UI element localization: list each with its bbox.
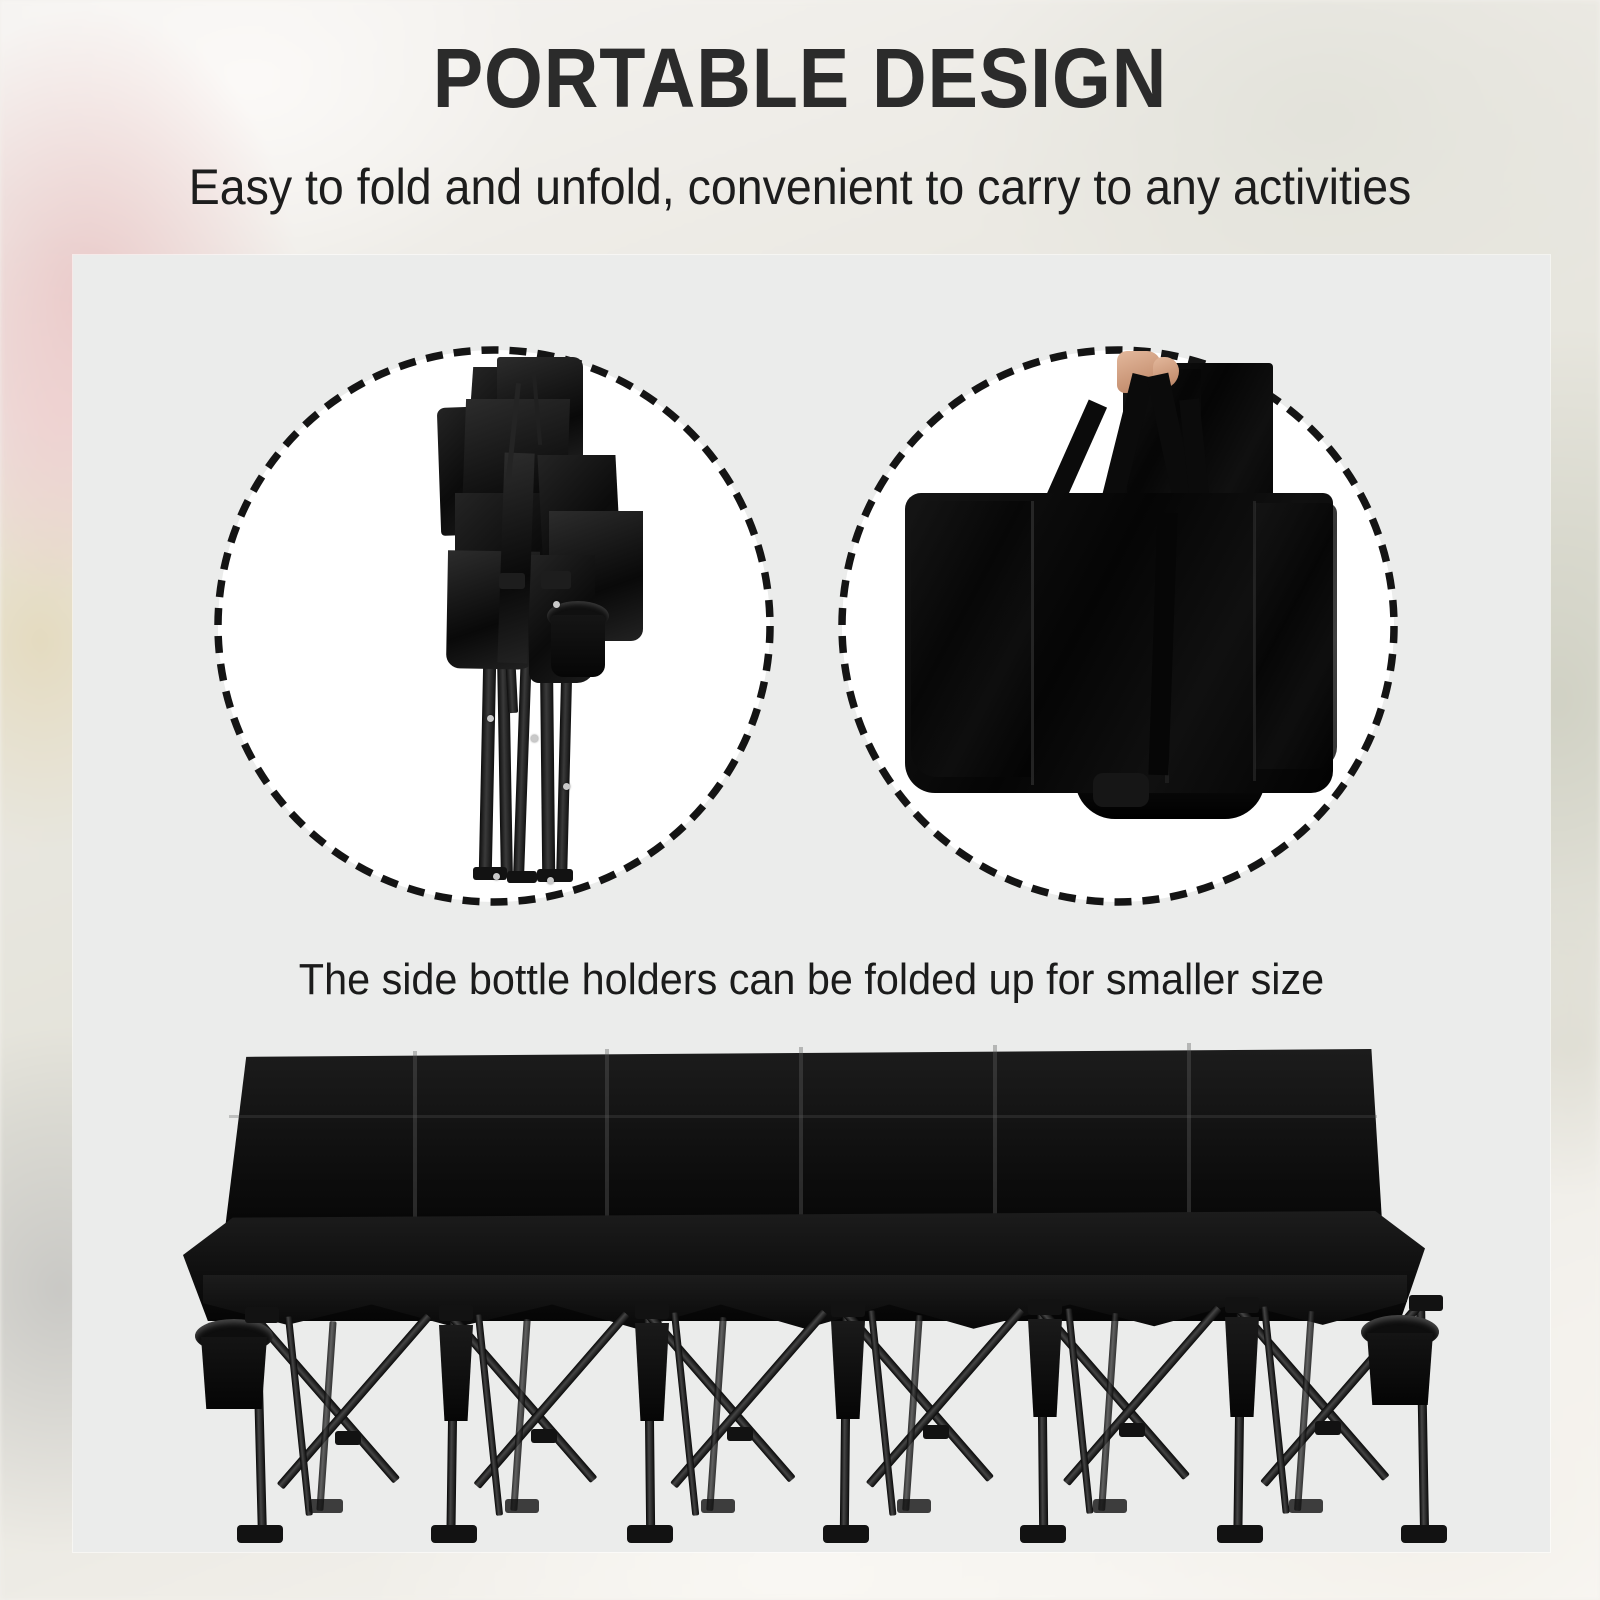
page-title: PORTABLE DESIGN — [80, 36, 1520, 120]
carry-bag-image — [835, 343, 1401, 909]
mid-caption: The side bottle holders can be folded up… — [117, 955, 1505, 1005]
folded-bench-callout — [211, 343, 777, 909]
content-panel: The side bottle holders can be folded up… — [73, 255, 1550, 1552]
bench-product-image — [73, 1025, 1550, 1545]
folded-bench-image — [211, 343, 777, 909]
carry-bag-callout — [835, 343, 1401, 909]
page-subtitle: Easy to fold and unfold, convenient to c… — [56, 160, 1544, 215]
